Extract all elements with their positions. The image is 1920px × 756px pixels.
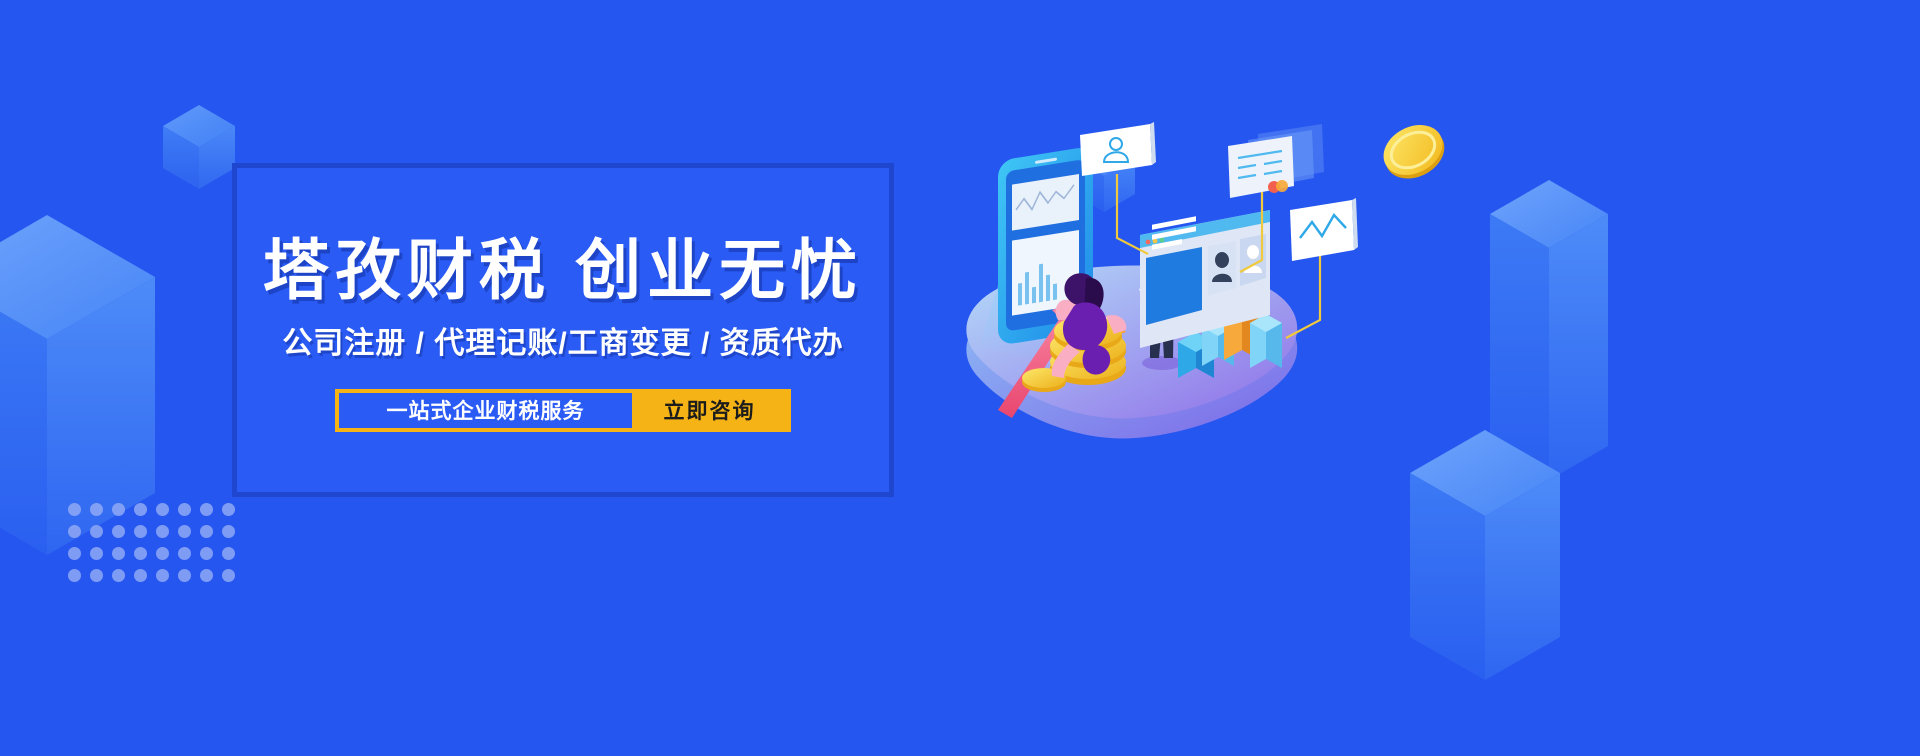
cta-row: 一站式企业财税服务 立即咨询 (335, 389, 791, 432)
cube-tall-left-icon (0, 215, 155, 555)
gold-coin-right-icon (1375, 112, 1451, 188)
consult-now-button[interactable]: 立即咨询 (632, 393, 787, 428)
dots-grid-pattern (68, 503, 244, 591)
page-title: 塔孜财税 创业无忧 (263, 237, 863, 303)
line-chart-card (1290, 198, 1358, 261)
cube-low-right-icon (1410, 430, 1560, 680)
headline-block: 塔孜财税 创业无忧 公司注册 / 代理记账/工商变更 / 资质代办 一站式企业财… (232, 163, 894, 497)
promo-banner: 塔孜财税 创业无忧 公司注册 / 代理记账/工商变更 / 资质代办 一站式企业财… (0, 0, 1920, 756)
isometric-fintech-illustration (940, 110, 1370, 470)
service-tag: 一站式企业财税服务 (339, 393, 632, 428)
services-subtitle: 公司注册 / 代理记账/工商变更 / 资质代办 (282, 329, 843, 359)
credit-card-stack (1228, 124, 1324, 198)
cube-tall-right-icon (1490, 180, 1608, 480)
user-profile-card (1080, 122, 1156, 176)
cube-small-1-icon (163, 105, 235, 189)
